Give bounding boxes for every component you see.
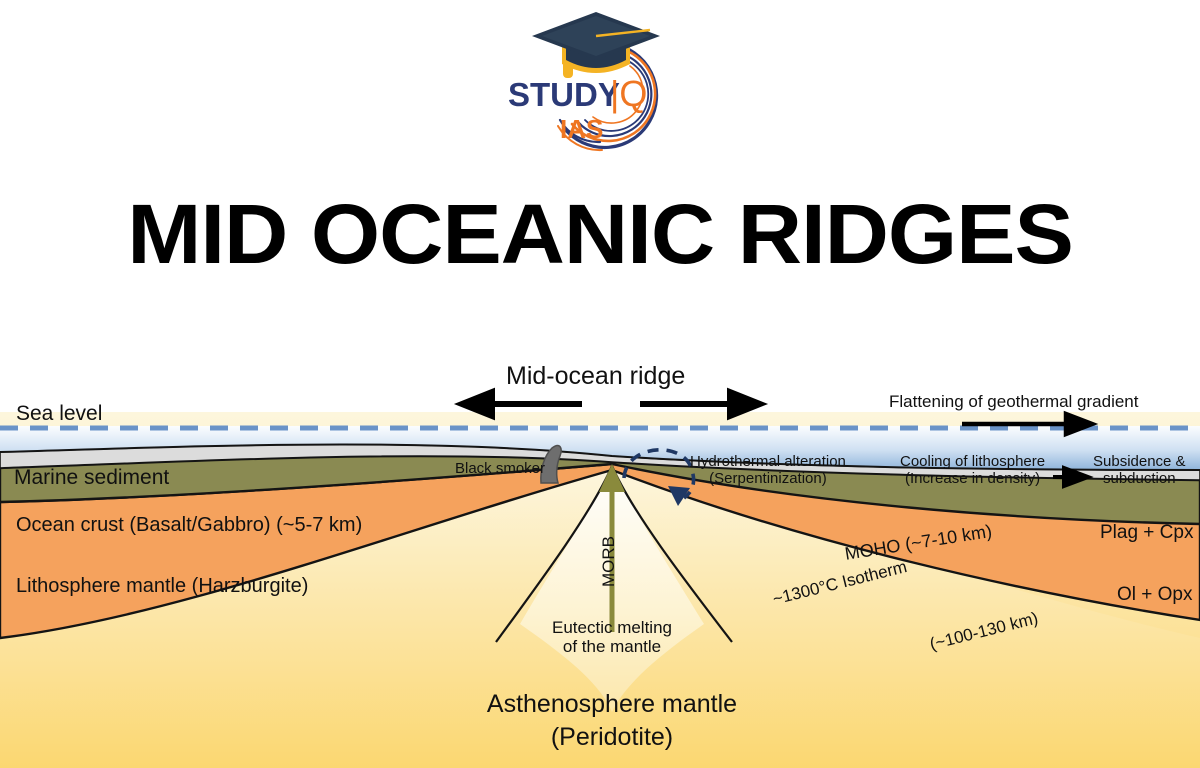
subsidence-line-2: subduction (1093, 471, 1186, 488)
label-mid-ocean-ridge: Mid-ocean ridge (506, 362, 685, 390)
logo-text-study: STUDY (508, 76, 620, 113)
label-asthenosphere-mantle: Asthenosphere mantle (Peridotite) (432, 688, 792, 753)
brand-logo: STUDY |Q IAS (0, 4, 1200, 164)
cooling-line-2: (Increase in density) (900, 471, 1045, 488)
label-morb: MORB (599, 536, 618, 587)
label-eutectic-melting: Eutectic melting of the mantle (527, 618, 697, 656)
label-lithosphere-mantle: Lithosphere mantle (Harzburgite) (16, 575, 308, 597)
label-ocean-crust: Ocean crust (Basalt/Gabbro) (~5-7 km) (16, 514, 362, 536)
asthenosphere-line-2: (Peridotite) (432, 721, 792, 754)
label-ol-opx: Ol + Opx (1117, 584, 1193, 605)
logo-graphic: STUDY |Q IAS (500, 8, 700, 160)
eutectic-line-2: of the mantle (527, 637, 697, 656)
poster-root: STUDY |Q IAS MID OCEANIC RIDGES (0, 0, 1200, 768)
label-marine-sediment: Marine sediment (14, 466, 169, 490)
cooling-line-1: Cooling of lithosphere (900, 454, 1045, 471)
hydrothermal-line-2: (Serpentinization) (690, 471, 846, 488)
eutectic-line-1: Eutectic melting (527, 618, 697, 637)
subsidence-line-1: Subsidence & (1093, 454, 1186, 471)
label-subsidence-subduction: Subsidence & subduction (1093, 454, 1186, 488)
label-sea-level: Sea level (16, 402, 102, 426)
label-plag-cpx: Plag + Cpx (1100, 522, 1193, 543)
label-hydrothermal-alteration: Hydrothermal alteration (Serpentinizatio… (690, 454, 846, 488)
mid-ocean-ridge-diagram: Mid-ocean ridge Flattening of geothermal… (0, 352, 1200, 768)
label-cooling-lithosphere: Cooling of lithosphere (Increase in dens… (900, 454, 1045, 488)
label-black-smoker: Black smoker (455, 461, 545, 478)
logo-text-iq: |Q (610, 73, 647, 114)
logo-text-ias: IAS (560, 114, 603, 144)
label-flattening-geothermal: Flattening of geothermal gradient (889, 392, 1139, 411)
page-title: MID OCEANIC RIDGES (0, 188, 1200, 280)
studyiq-logo-mark: STUDY |Q IAS (500, 8, 700, 160)
asthenosphere-line-1: Asthenosphere mantle (432, 688, 792, 721)
hydrothermal-line-1: Hydrothermal alteration (690, 454, 846, 471)
